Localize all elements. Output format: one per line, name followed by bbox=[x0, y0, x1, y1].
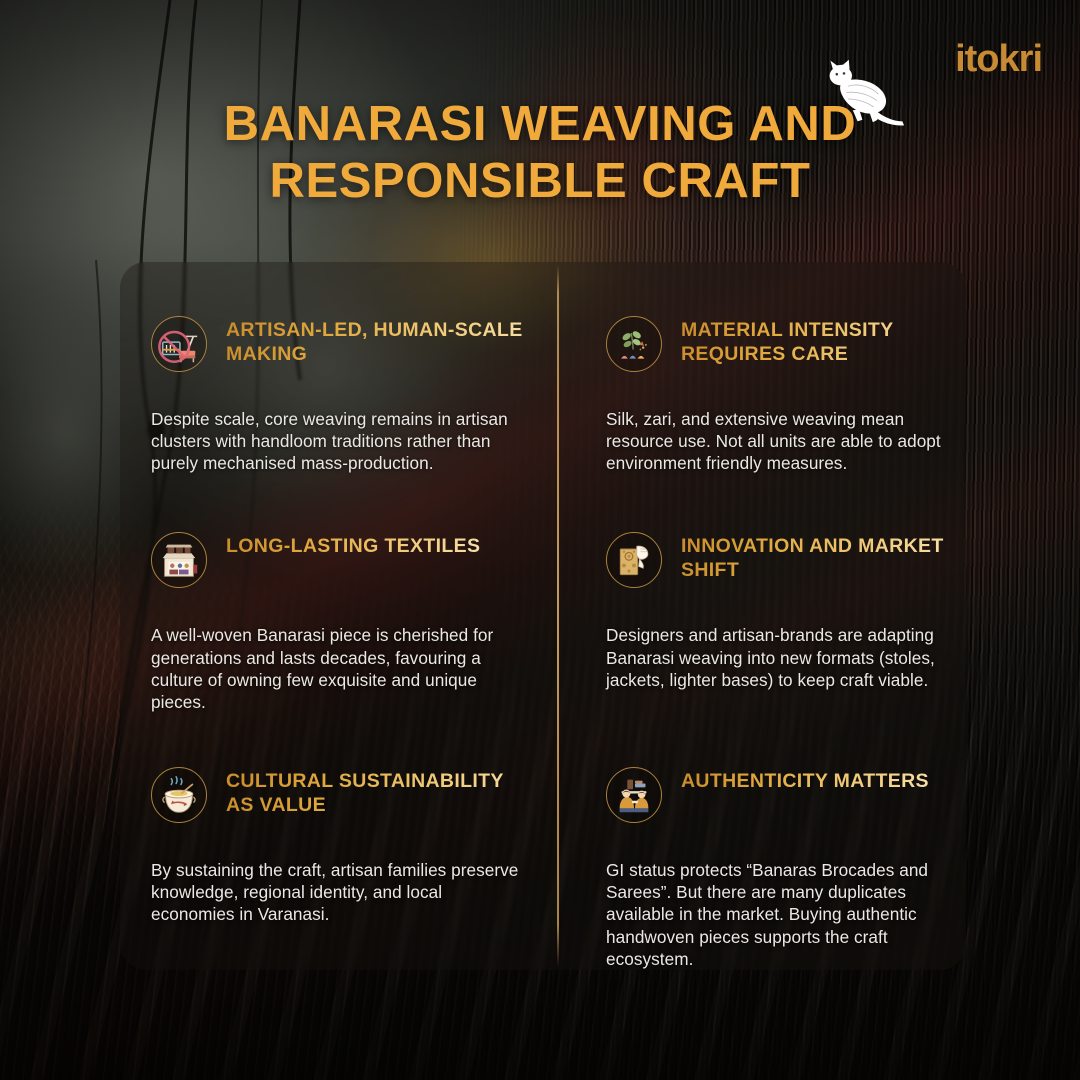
card-title: INNOVATION AND MARKET SHIFT bbox=[681, 530, 944, 583]
header: BANARASI WEAVING AND RESPONSIBLE CRAFT bbox=[0, 96, 1080, 211]
natural-dye-leaves-icon bbox=[606, 316, 662, 372]
card-title: ARTISAN-LED, HUMAN-SCALE MAKING bbox=[226, 314, 529, 367]
card-header: AUTHENTICITY MATTERS bbox=[606, 765, 944, 823]
page-title-line-1: BANARASI WEAVING AND bbox=[224, 97, 857, 151]
card-body: GI status protects “Banaras Brocades and… bbox=[606, 859, 944, 970]
insight-card-long-lasting-textiles: LONG-LASTING TEXTILES A well-woven Banar… bbox=[120, 478, 557, 713]
insight-card-cultural-sustainability: CULTURAL SUSTAINABILITY AS VALUE By sust… bbox=[120, 713, 557, 970]
page-title: BANARASI WEAVING AND RESPONSIBLE CRAFT bbox=[0, 96, 1080, 211]
page-title-line-2: RESPONSIBLE CRAFT bbox=[269, 154, 810, 208]
card-title: CULTURAL SUSTAINABILITY AS VALUE bbox=[226, 765, 529, 818]
insight-card-material-intensity: MATERIAL INTENSITY REQUIRES CARE Silk, z… bbox=[557, 262, 966, 478]
two-seated-artisans-icon bbox=[606, 767, 662, 823]
card-header: INNOVATION AND MARKET SHIFT bbox=[606, 530, 944, 588]
card-header: LONG-LASTING TEXTILES bbox=[151, 530, 529, 588]
card-header: MATERIAL INTENSITY REQUIRES CARE bbox=[606, 314, 944, 372]
card-header: CULTURAL SUSTAINABILITY AS VALUE bbox=[151, 765, 529, 823]
card-body: A well-woven Banarasi piece is cherished… bbox=[151, 624, 529, 713]
card-title: LONG-LASTING TEXTILES bbox=[226, 530, 480, 559]
card-title: MATERIAL INTENSITY REQUIRES CARE bbox=[681, 314, 944, 367]
card-body: By sustaining the craft, artisan familie… bbox=[151, 859, 529, 926]
insight-card-innovation-market-shift: INNOVATION AND MARKET SHIFT Designers an… bbox=[557, 478, 966, 713]
card-header: ARTISAN-LED, HUMAN-SCALE MAKING bbox=[151, 314, 529, 372]
insights-grid: ARTISAN-LED, HUMAN-SCALE MAKING Despite … bbox=[120, 262, 966, 970]
insight-card-authenticity-matters: AUTHENTICITY MATTERS GI status protects … bbox=[557, 713, 966, 970]
hand-holding-fabric-swatch-icon bbox=[606, 532, 662, 588]
card-title: AUTHENTICITY MATTERS bbox=[681, 765, 929, 794]
infographic-canvas: BANARASI WEAVING AND RESPONSIBLE CRAFT i… bbox=[0, 0, 1080, 1080]
card-body: Silk, zari, and extensive weaving mean r… bbox=[606, 408, 944, 475]
cat-illustration-icon bbox=[816, 54, 912, 128]
insight-card-artisan-led: ARTISAN-LED, HUMAN-SCALE MAKING Despite … bbox=[120, 262, 557, 478]
no-mass-production-icon bbox=[151, 316, 207, 372]
card-body: Despite scale, core weaving remains in a… bbox=[151, 408, 529, 475]
brand-logo[interactable]: itokri bbox=[955, 40, 1042, 78]
card-body: Designers and artisan-brands are adaptin… bbox=[606, 624, 944, 691]
steaming-dye-pot-icon bbox=[151, 767, 207, 823]
craft-shop-storefront-icon bbox=[151, 532, 207, 588]
